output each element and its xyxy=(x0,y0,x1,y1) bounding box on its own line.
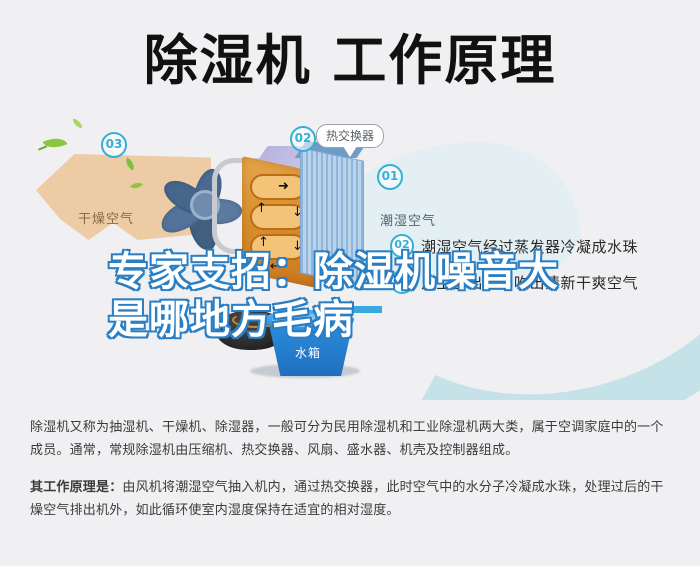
air-inlet-arrow-tail xyxy=(350,306,382,313)
flow-arrow-icon: ↑ xyxy=(258,236,269,249)
flow-arrow-icon: ↓ xyxy=(292,206,303,219)
legend-list: 02 潮湿空气经过蒸发器冷凝成水珠 03 从上部出风口吹出清新干爽空气 xyxy=(390,228,690,300)
page-title: 除湿机 工作原理 xyxy=(0,30,700,92)
flow-arrow-icon: ← xyxy=(270,260,281,273)
water-tank-label: 水箱 xyxy=(262,344,354,361)
leaf-icon xyxy=(71,118,84,128)
legend-badge: 02 xyxy=(390,234,414,258)
heat-exchanger-callout-tail xyxy=(343,146,357,157)
legend-label: 从上部出风口吹出清新干爽空气 xyxy=(421,272,638,293)
heat-exchanger-assembly: ➜ ↑ ↓ ↑ ↓ ← xyxy=(238,140,368,315)
title-bar: 除湿机 工作原理 xyxy=(0,0,700,115)
body-paragraph-1: 除湿机又称为抽湿机、干燥机、除湿器，一般可分为民用除湿机和工业除湿机两大类，属于… xyxy=(30,416,674,462)
marker-03: 03 xyxy=(101,132,127,158)
flow-arrow-icon: ➜ xyxy=(278,180,289,193)
body-paragraph-2: 其工作原理是：由风机将潮湿空气抽入机内，通过热交换器，此时空气中的水分子冷凝成水… xyxy=(30,476,674,522)
marker-02: 02 xyxy=(290,126,316,152)
leaf-icon xyxy=(43,133,68,153)
water-tank-inner xyxy=(272,314,344,327)
legend-item: 03 从上部出风口吹出清新干爽空气 xyxy=(390,264,690,300)
body-paragraph-2-rest: 由风机将潮湿空气抽入机内，通过热交换器，此时空气中的水分子冷凝成水珠，处理过后的… xyxy=(30,480,664,518)
water-tank-icon: 水箱 xyxy=(262,308,354,380)
flow-arrow-icon: ↓ xyxy=(292,240,303,253)
heat-exchanger-callout: 热交换器 xyxy=(316,124,384,148)
dry-air-label: 干燥空气 xyxy=(78,208,134,227)
article-body: 除湿机又称为抽湿机、干燥机、除湿器，一般可分为民用除湿机和工业除湿机两大类，属于… xyxy=(30,416,674,536)
flow-arrow-icon: ↑ xyxy=(256,202,267,215)
marker-01: 01 xyxy=(377,164,403,190)
body-paragraph-2-lead: 其工作原理是： xyxy=(30,480,122,495)
legend-badge: 03 xyxy=(390,270,414,294)
legend-label: 潮湿空气经过蒸发器冷凝成水珠 xyxy=(421,236,638,257)
evaporator-fins xyxy=(300,147,364,287)
infographic-page: 除湿机 工作原理 干燥空气 xyxy=(0,0,700,566)
humid-air-label: 潮湿空气 xyxy=(380,210,436,229)
legend-item: 02 潮湿空气经过蒸发器冷凝成水珠 xyxy=(390,228,690,264)
